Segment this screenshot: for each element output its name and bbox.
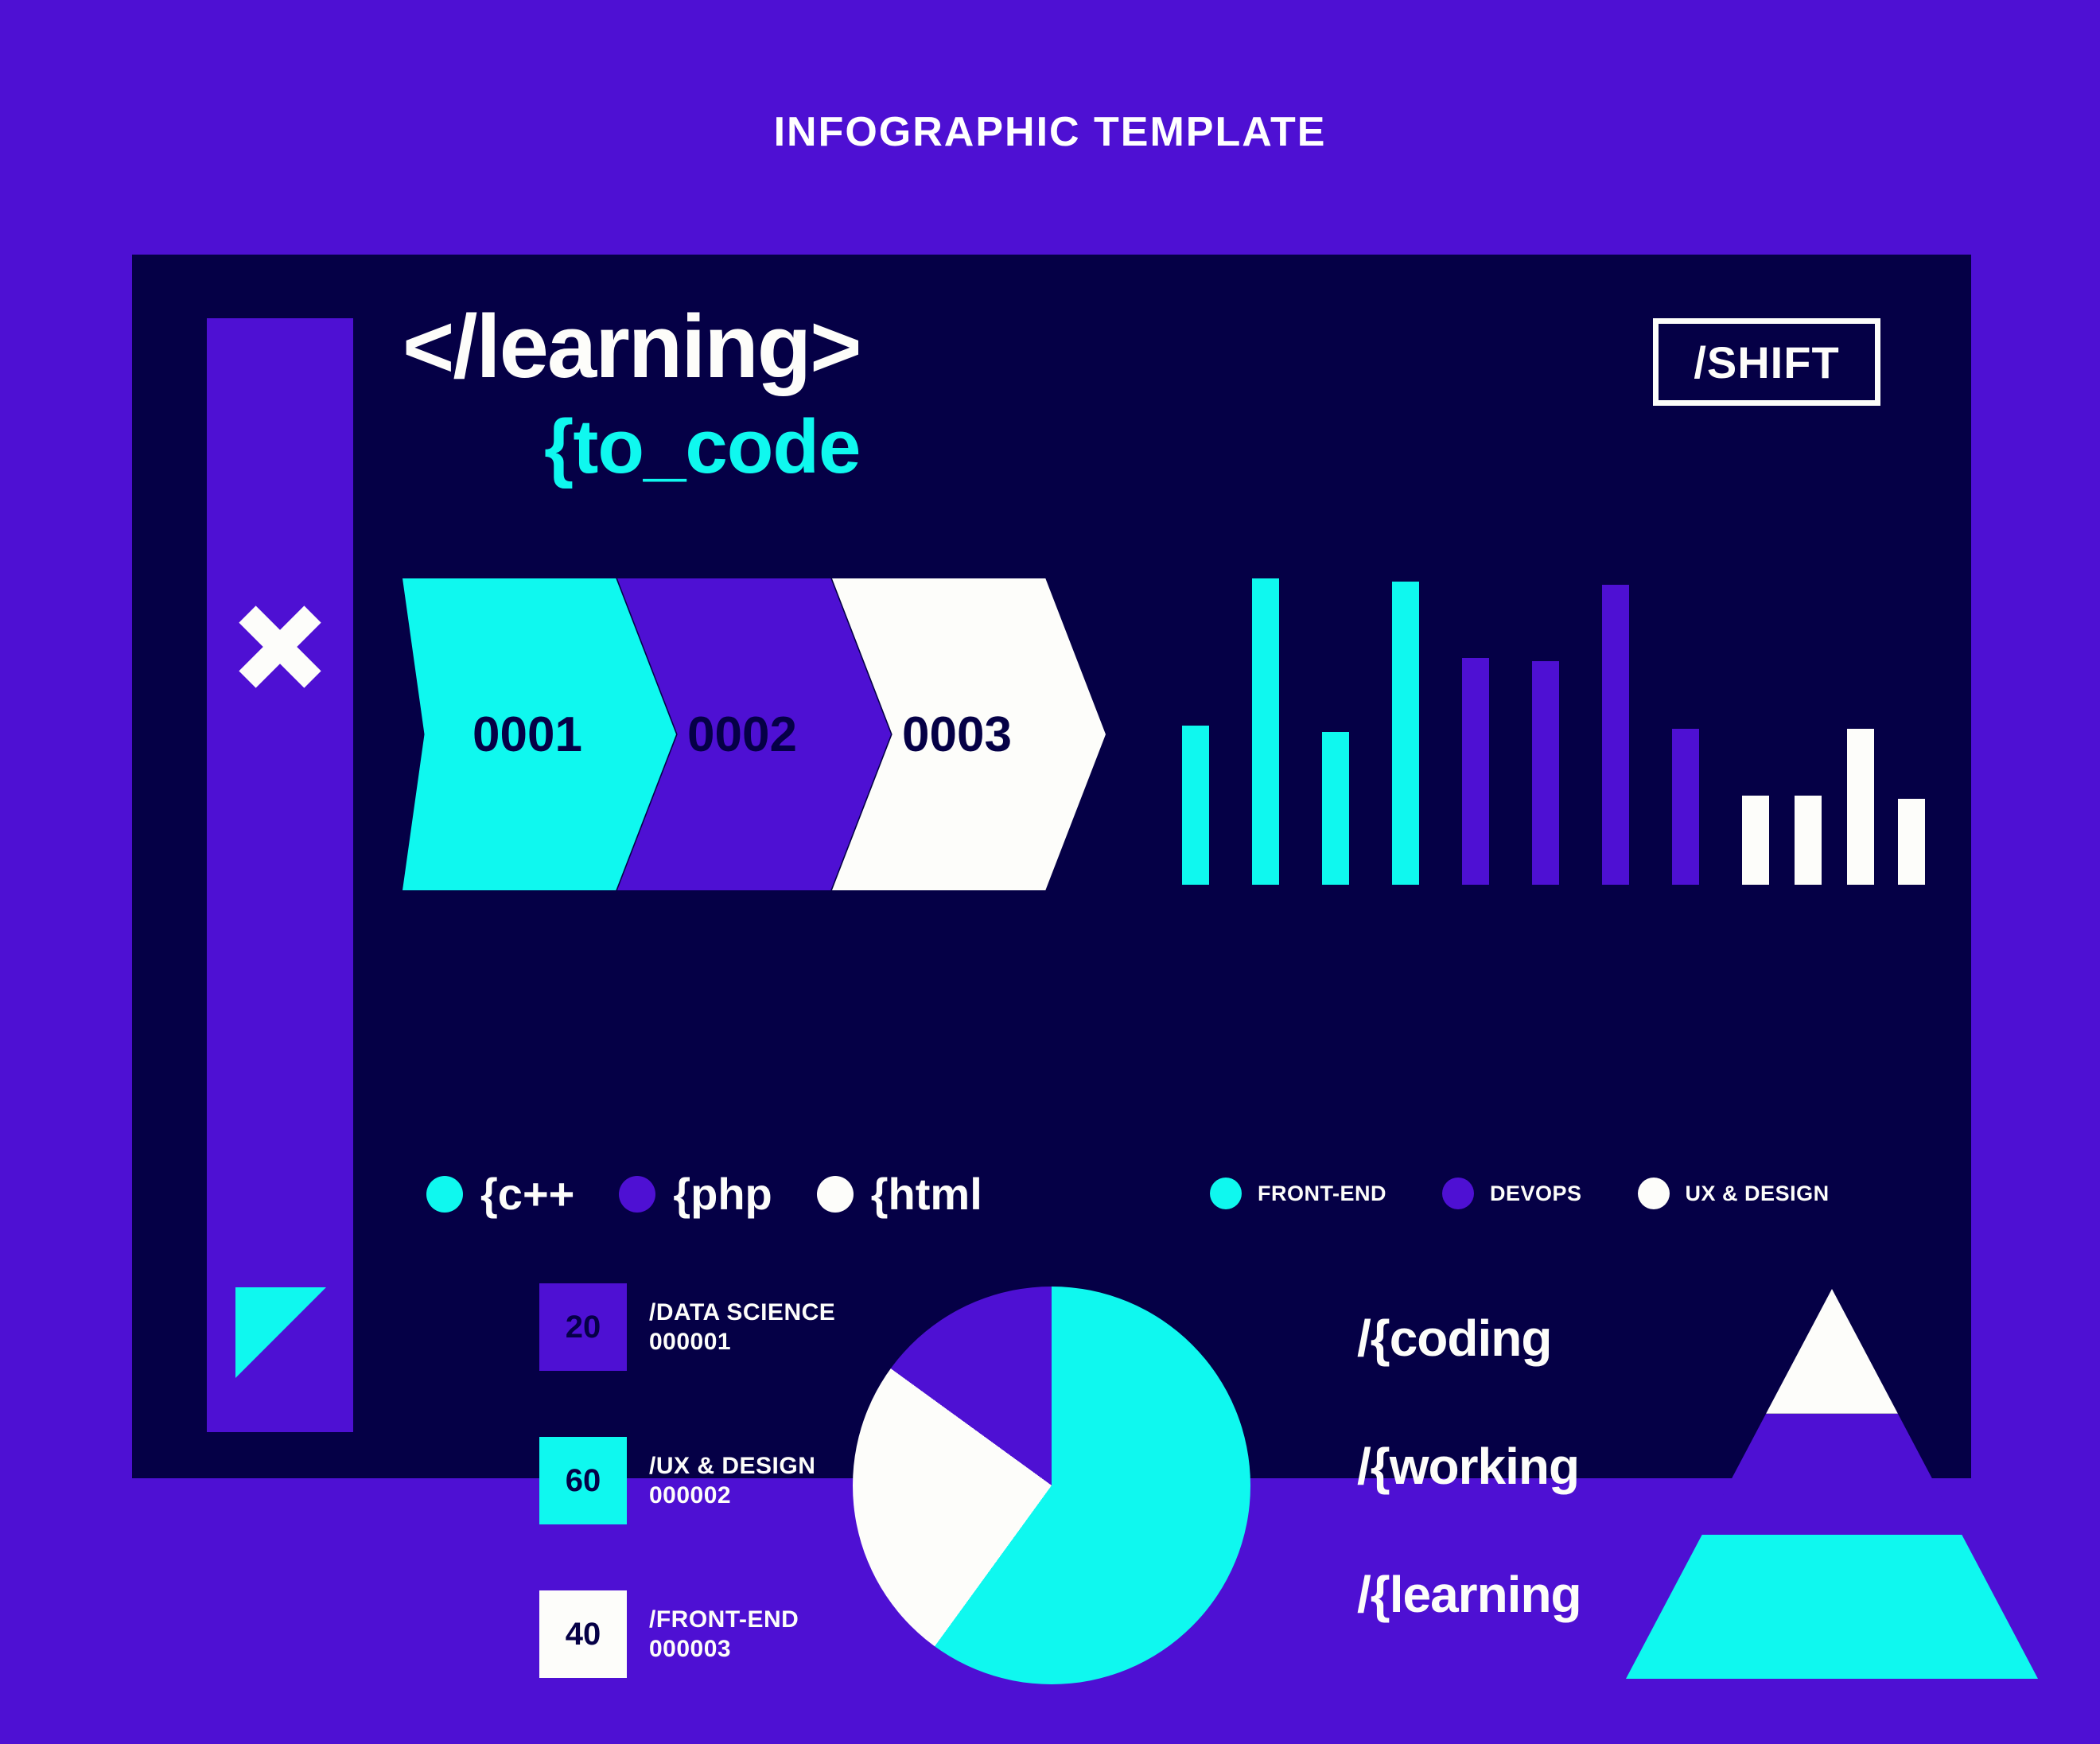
legend-label: {html [871, 1168, 982, 1220]
stat-row[interactable]: 40 /FRONT-END 000003 [539, 1590, 835, 1678]
pie-chart [853, 1287, 1250, 1684]
pyramid-segment [1626, 1535, 2038, 1679]
bar-chart-bar [1672, 729, 1699, 885]
stat-text: /UX & DESIGN 000002 [649, 1451, 815, 1511]
bar-chart-bar [1742, 796, 1769, 885]
pyramid-segment [1626, 1289, 2038, 1414]
bar-chart [1182, 578, 1922, 885]
stat-text: /DATA SCIENCE 000001 [649, 1298, 835, 1357]
stat-value-box: 60 [539, 1437, 627, 1524]
stat-value-box: 20 [539, 1283, 627, 1371]
legend-label: {php [673, 1168, 772, 1220]
keyword-list: /{coding /{working /{learning [1357, 1309, 1581, 1693]
bar-chart-bar [1392, 582, 1419, 885]
process-step[interactable]: 0001 [402, 578, 676, 890]
legend-dot-icon [426, 1176, 463, 1213]
shift-badge[interactable]: /SHIFT [1653, 318, 1880, 406]
page-title: INFOGRAPHIC TEMPLATE [0, 108, 2100, 156]
bar-chart-bar [1602, 585, 1629, 885]
logo-block: </learning> {to_code [402, 302, 861, 485]
keyword-item[interactable]: /{working [1357, 1437, 1581, 1496]
process-flow: 0001 0002 0003 [402, 578, 959, 890]
legend-dot-icon [619, 1176, 655, 1213]
bar-chart-bar [1898, 799, 1925, 885]
stat-text: /FRONT-END 000003 [649, 1605, 799, 1664]
legend-item[interactable]: {php [619, 1168, 772, 1220]
stat-label: /UX & DESIGN [649, 1451, 815, 1481]
bar-chart-bar [1795, 796, 1822, 885]
legend-dot-icon [1210, 1178, 1242, 1209]
bar-chart-bar [1252, 578, 1279, 885]
stat-code: 000001 [649, 1327, 835, 1357]
legend-label: DEVOPS [1490, 1181, 1582, 1206]
bar-chart-bar [1322, 732, 1349, 886]
legend-item[interactable]: UX & DESIGN [1638, 1178, 1830, 1209]
left-sidebar [207, 318, 353, 1432]
stat-code: 000002 [649, 1481, 815, 1511]
legend-item[interactable]: {c++ [426, 1168, 574, 1220]
bar-chart-bar [1847, 729, 1874, 885]
main-panel: </learning> {to_code /SHIFT 0001 0002 00… [132, 255, 1971, 1478]
bar-chart-legend: FRONT-END DEVOPS UX & DESIGN [1210, 1178, 1830, 1209]
legend-label: FRONT-END [1258, 1181, 1386, 1206]
bar-chart-bar [1462, 658, 1489, 885]
legend-label: UX & DESIGN [1686, 1181, 1830, 1206]
triangle-icon [235, 1287, 326, 1378]
bar-chart-bar [1182, 726, 1209, 885]
stat-list: 20 /DATA SCIENCE 000001 60 /UX & DESIGN … [539, 1283, 835, 1744]
legend-dot-icon [817, 1176, 854, 1213]
legend-item[interactable]: DEVOPS [1442, 1178, 1582, 1209]
pyramid-segment [1626, 1414, 2038, 1535]
stat-row[interactable]: 20 /DATA SCIENCE 000001 [539, 1283, 835, 1371]
logo-primary-text: </learning> [402, 302, 861, 391]
stat-code: 000003 [649, 1634, 799, 1664]
logo-secondary-text: {to_code [402, 409, 861, 485]
legend-label: {c++ [480, 1168, 574, 1220]
legend-item[interactable]: {html [817, 1168, 982, 1220]
stat-label: /FRONT-END [649, 1605, 799, 1635]
legend-dot-icon [1638, 1178, 1670, 1209]
keyword-item[interactable]: /{coding [1357, 1309, 1581, 1368]
stat-row[interactable]: 60 /UX & DESIGN 000002 [539, 1437, 835, 1524]
stat-label: /DATA SCIENCE [649, 1298, 835, 1328]
bar-chart-bar [1532, 661, 1559, 885]
keyword-item[interactable]: /{learning [1357, 1565, 1581, 1624]
pyramid-chart [1626, 1289, 2038, 1679]
stat-value-box: 40 [539, 1590, 627, 1678]
legend-item[interactable]: FRONT-END [1210, 1178, 1386, 1209]
x-mark-icon [234, 601, 326, 693]
language-legend: {c++ {php {html [426, 1168, 982, 1220]
legend-dot-icon [1442, 1178, 1474, 1209]
